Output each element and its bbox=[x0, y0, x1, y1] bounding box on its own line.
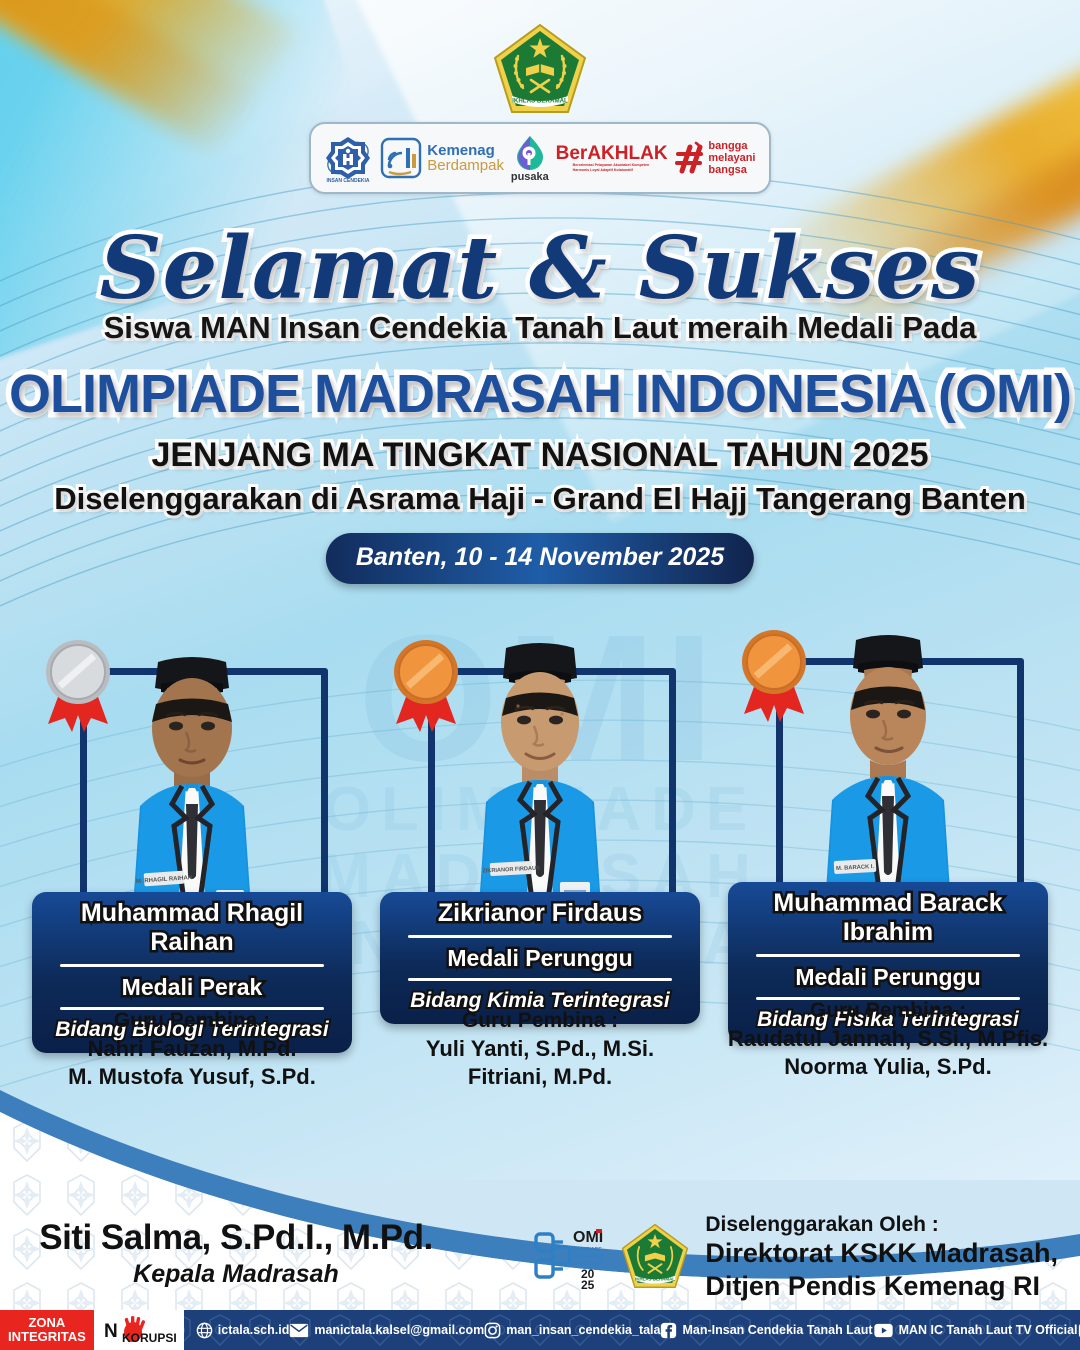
student-3-medal: Medali Perunggu bbox=[740, 964, 1036, 990]
event-level: JENJANG MA TINGKAT NASIONAL TAHUN 2025 bbox=[0, 436, 1080, 475]
instagram-icon bbox=[484, 1322, 501, 1339]
email-icon bbox=[289, 1323, 309, 1338]
divider bbox=[408, 935, 672, 938]
principal-role: Kepala Madrasah bbox=[26, 1260, 446, 1289]
youtube-icon bbox=[873, 1323, 894, 1338]
kemenag-berdampak-icon bbox=[379, 136, 423, 180]
korupsi-n: N bbox=[104, 1321, 118, 1342]
medal-bronze-2 bbox=[380, 628, 472, 738]
divider bbox=[756, 954, 1020, 957]
instagram-text: man_insan_cendekia_tala bbox=[506, 1323, 660, 1337]
contact-instagram[interactable]: man_insan_cendekia_tala bbox=[484, 1322, 660, 1339]
poster-root: OMI OLIMPIADE MADRASAH INDONESIA bbox=[0, 0, 1080, 1350]
student-card-1: M. RHAGIL RAIHAN Muhammad Rhagil Raihan … bbox=[22, 596, 362, 1096]
partner-pusaka: pusaka bbox=[511, 134, 549, 183]
zona-integritas-block: ZONA INTEGRITAS N KORUPSI bbox=[0, 1310, 184, 1350]
divider bbox=[60, 964, 324, 967]
bmb-line3: bangsa bbox=[708, 164, 755, 176]
student-2-mentors: Guru Pembina : Yuli Yanti, S.Pd., M.Si. … bbox=[370, 1008, 710, 1091]
student-3-mentor-2: Noorma Yulia, S.Pd. bbox=[718, 1053, 1058, 1081]
subtitle-part-2: Pada bbox=[894, 310, 977, 345]
zona-line-2: INTEGRITAS bbox=[8, 1330, 86, 1344]
student-1-mentor-1: Nahri Fauzan, M.Pd. bbox=[22, 1035, 362, 1063]
omi-logo-year2: 25 bbox=[581, 1278, 595, 1292]
student-card-3: M. BARACK I. Muhammad Barack Ibrahim Med… bbox=[718, 596, 1058, 1096]
student-2-namecard: Zikrianor Firdaus Medali Perunggu Bidang… bbox=[380, 892, 700, 1024]
insan-cendekia-icon: INSAN CENDEKIA bbox=[324, 133, 372, 183]
organizer-line-2: Ditjen Pendis Kemenag RI bbox=[705, 1270, 1058, 1302]
student-1-mentor-label: Guru Pembina : bbox=[22, 1008, 362, 1035]
organizer-label: Diselenggarakan Oleh : bbox=[705, 1212, 1058, 1237]
footer-curve-background bbox=[0, 1060, 1080, 1350]
zona-line-1: ZONA bbox=[8, 1316, 86, 1330]
bangga-melayani-bangsa-text: bangga melayani bangsa bbox=[708, 140, 755, 177]
organizer-line-1: Direktorat KSKK Madrasah, bbox=[705, 1237, 1058, 1269]
contact-facebook[interactable]: Man-Insan Cendekia Tanah Laut bbox=[660, 1322, 872, 1339]
globe-icon bbox=[196, 1322, 213, 1339]
student-card-2: ZIKRIANOR FIRDAUS Zikrianor Firdaus Meda… bbox=[370, 596, 710, 1096]
greeting-headline: Selamat & Sukses bbox=[0, 218, 1080, 319]
kemenag-berdampak-text: Kemenag Berdampak bbox=[427, 143, 504, 174]
partner-kemenag-berdampak: Kemenag Berdampak bbox=[379, 136, 504, 180]
student-3-mentor-1: Raudatul Jannah, S.Si., M.Pfis. bbox=[718, 1025, 1058, 1053]
contact-bar: ZONA INTEGRITAS N KORUPSI bbox=[0, 1310, 1080, 1350]
subtitle-part-1: Siswa MAN Insan Cendekia Tanah Laut mera… bbox=[104, 310, 798, 345]
student-3-name: Muhammad Barack Ibrahim bbox=[740, 889, 1036, 947]
principal-block: Siti Salma, S.Pd.I., M.Pd. Kepala Madras… bbox=[26, 1218, 446, 1289]
no-korupsi-icon: N KORUPSI bbox=[102, 1314, 176, 1346]
ministry-motto-text-footer: IKHLAS BERAMAL bbox=[635, 1276, 675, 1281]
student-3-mentor-label: Guru Pembina : bbox=[718, 998, 1058, 1025]
berakhlak-subtext: Berorientasi Pelayanan Akuntabel Kompete… bbox=[573, 163, 651, 173]
ministry-motto-text: IKHLAS BERAMAL bbox=[512, 98, 568, 105]
contact-website[interactable]: ictala.sch.id bbox=[196, 1322, 290, 1339]
student-1-medal: Medali Perak bbox=[44, 974, 340, 1000]
zona-integritas-label: ZONA INTEGRITAS bbox=[0, 1310, 94, 1350]
kemenag-pentagon-logo-footer: IKHLAS BERAMAL bbox=[619, 1222, 691, 1292]
student-2-mentor-label: Guru Pembina : bbox=[370, 1008, 710, 1035]
partner-bangga-melayani-bangsa: bangga melayani bangsa bbox=[674, 140, 755, 177]
website-text: ictala.sch.id bbox=[218, 1323, 290, 1337]
kemenag-pentagon-logo: IKHLAS BERAMAL bbox=[490, 22, 590, 118]
principal-name: Siti Salma, S.Pd.I., M.Pd. bbox=[26, 1218, 446, 1258]
omi-logo-sub2: MADRASAH bbox=[573, 1254, 604, 1260]
pusaka-icon bbox=[515, 134, 545, 170]
student-2-mentor-2: Fitriani, M.Pd. bbox=[370, 1063, 710, 1091]
email-text: manictala.kalsel@gmail.com bbox=[314, 1323, 484, 1337]
pusaka-caption: pusaka bbox=[511, 171, 549, 183]
event-venue: Diselenggarakan di Asrama Haji - Grand E… bbox=[0, 481, 1080, 517]
student-1-mentor-2: M. Mustofa Yusuf, S.Pd. bbox=[22, 1063, 362, 1091]
medal-silver-1 bbox=[32, 628, 124, 738]
kemenag-berdampak-line2: Berdampak bbox=[427, 158, 504, 174]
no-korupsi-logo: N KORUPSI bbox=[94, 1310, 184, 1350]
student-1-name: Muhammad Rhagil Raihan bbox=[44, 899, 340, 957]
divider bbox=[408, 978, 672, 981]
bmb-line1: bangga bbox=[708, 140, 755, 152]
students-row: M. RHAGIL RAIHAN Muhammad Rhagil Raihan … bbox=[0, 596, 1080, 1096]
organizer-text: Diselenggarakan Oleh : Direktorat KSKK M… bbox=[705, 1212, 1058, 1302]
partner-berakhlak: BerAKHLAK Berorientasi Pelayanan Akuntab… bbox=[556, 144, 668, 173]
omi-logo-sub1: OLIMPIADE bbox=[573, 1247, 602, 1253]
student-2-medal: Medali Perunggu bbox=[392, 945, 688, 971]
youtube-text: MAN IC Tanah Laut TV Official bbox=[899, 1323, 1078, 1337]
event-date-badge: Banten, 10 - 14 November 2025 bbox=[326, 533, 754, 584]
subtitle-bold-medali: Medali bbox=[797, 310, 893, 345]
partner-logo-bar: INSAN CENDEKIA Kemenag Berdampak bbox=[309, 122, 771, 194]
omi-logo: OMI OLIMPIADE MADRASAH INDONESIA 20 25 bbox=[531, 1220, 605, 1294]
contact-youtube[interactable]: MAN IC Tanah Laut TV Official bbox=[873, 1323, 1078, 1338]
kemenag-berdampak-line1: Kemenag bbox=[427, 143, 504, 158]
student-2-name: Zikrianor Firdaus bbox=[392, 899, 688, 928]
subtitle-line: Siswa MAN Insan Cendekia Tanah Laut mera… bbox=[0, 310, 1080, 346]
partner-insan-cendekia: INSAN CENDEKIA bbox=[324, 133, 372, 183]
contact-items: ictala.sch.id manictala.kalsel@gmail.com… bbox=[184, 1322, 1080, 1339]
organizer-block: OMI OLIMPIADE MADRASAH INDONESIA 20 25 I… bbox=[531, 1212, 1058, 1302]
student-1-mentors: Guru Pembina : Nahri Fauzan, M.Pd. M. Mu… bbox=[22, 1008, 362, 1091]
student-3-mentors: Guru Pembina : Raudatul Jannah, S.Si., M… bbox=[718, 998, 1058, 1081]
contact-email[interactable]: manictala.kalsel@gmail.com bbox=[289, 1323, 484, 1338]
facebook-text: Man-Insan Cendekia Tanah Laut bbox=[682, 1323, 872, 1337]
student-2-mentor-1: Yuli Yanti, S.Pd., M.Si. bbox=[370, 1035, 710, 1063]
bmb-line2: melayani bbox=[708, 152, 755, 164]
bangga-melayani-bangsa-icon bbox=[674, 141, 704, 175]
berakhlak-label: BerAKHLAK bbox=[556, 144, 668, 163]
event-title: OLIMPIADE MADRASAH INDONESIA (OMI) bbox=[0, 363, 1080, 425]
korupsi-rest: KORUPSI bbox=[122, 1331, 176, 1345]
medal-bronze-3 bbox=[728, 618, 820, 728]
insan-cendekia-caption: INSAN CENDEKIA bbox=[327, 178, 370, 183]
facebook-icon bbox=[660, 1322, 677, 1339]
